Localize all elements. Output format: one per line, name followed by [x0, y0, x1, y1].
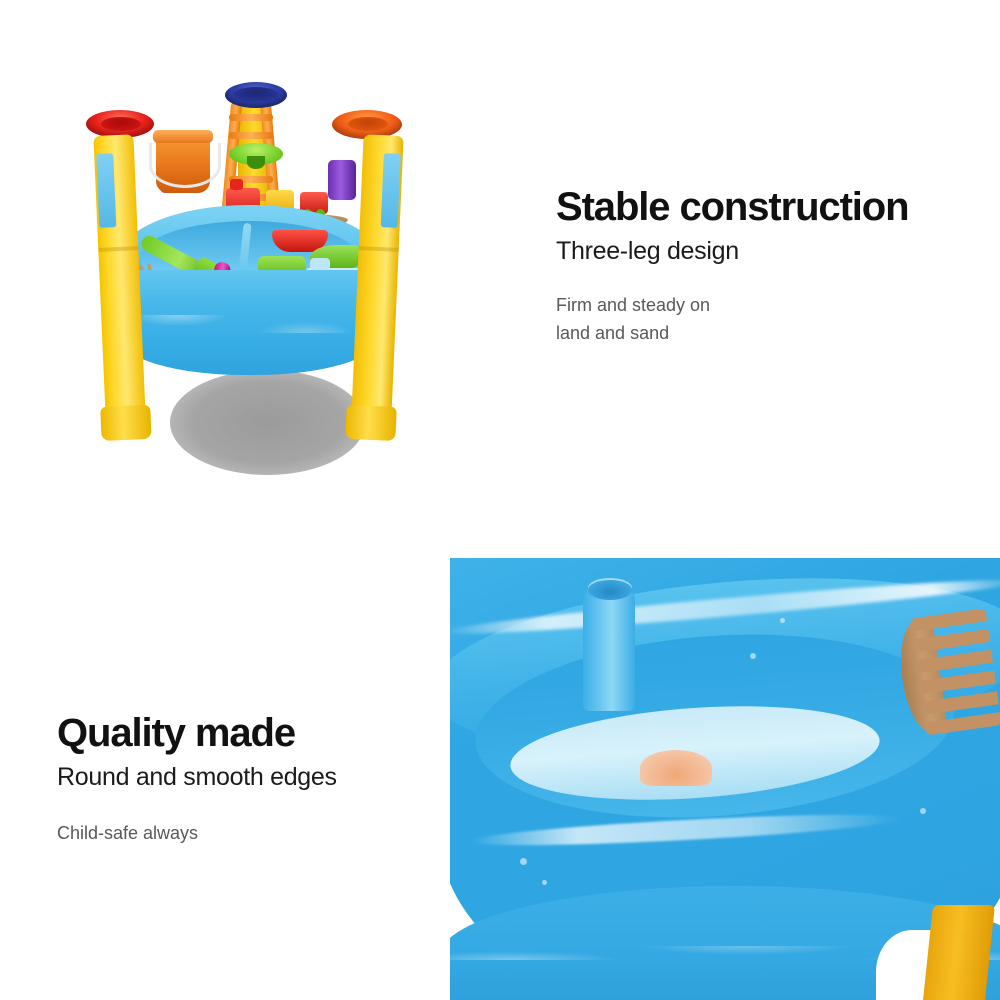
product-feature-page: Stable construction Three-leg design Fir…: [0, 0, 1000, 1000]
table-leg-front-right: [350, 134, 403, 440]
product-photo-basin-closeup: [450, 558, 1000, 1000]
bottom-text-block: Quality made Round and smooth edges Chil…: [57, 712, 477, 848]
top-body-text: Firm and steady on land and sand: [556, 292, 986, 348]
bottom-body-text: Child-safe always: [57, 820, 477, 848]
red-funnel-bowl: [101, 117, 141, 131]
bucket-handle: [149, 143, 221, 188]
bottom-feature-panel: Quality made Round and smooth edges Chil…: [0, 545, 1000, 1000]
bottom-heading: Quality made: [57, 712, 477, 754]
leg-inset-panel: [96, 153, 116, 228]
green-waterwheel: [229, 143, 283, 165]
bucket-rim: [153, 130, 213, 143]
closeup-table-leg: [923, 905, 995, 1000]
purple-waterwheel: [328, 160, 356, 200]
drain-spout-opening: [588, 580, 632, 600]
basin-skirt: [122, 270, 377, 375]
top-heading: Stable construction: [556, 186, 986, 228]
bottom-subheading: Round and smooth edges: [57, 762, 477, 792]
top-feature-panel: Stable construction Three-leg design Fir…: [0, 0, 1000, 545]
top-body-line-1: Firm and steady on: [556, 295, 710, 315]
water-droplet: [520, 858, 527, 865]
orange-funnel-bowl: [348, 117, 388, 131]
water-droplet: [920, 808, 926, 814]
tan-grate-closeup: [894, 608, 1000, 738]
drain-plug: [640, 750, 712, 786]
tower-rung: [229, 132, 273, 139]
blue-funnel-bowl: [233, 87, 279, 102]
water-droplet: [542, 880, 547, 885]
skirt-wave-line: [122, 315, 377, 333]
water-droplet: [750, 653, 756, 659]
water-droplet: [780, 618, 785, 623]
leg-foot: [100, 405, 151, 441]
grate-slots: [910, 608, 1000, 735]
leg-inset-panel: [381, 153, 401, 228]
top-body-line-2: land and sand: [556, 323, 669, 343]
product-photo-full-table: [60, 40, 460, 490]
drop-shadow: [170, 370, 365, 475]
table-leg-front-left: [93, 134, 146, 440]
top-text-block: Stable construction Three-leg design Fir…: [556, 186, 986, 348]
leg-foot: [345, 405, 396, 441]
tower-rung: [229, 114, 273, 121]
top-subheading: Three-leg design: [556, 236, 986, 266]
drain-spout: [583, 586, 635, 711]
